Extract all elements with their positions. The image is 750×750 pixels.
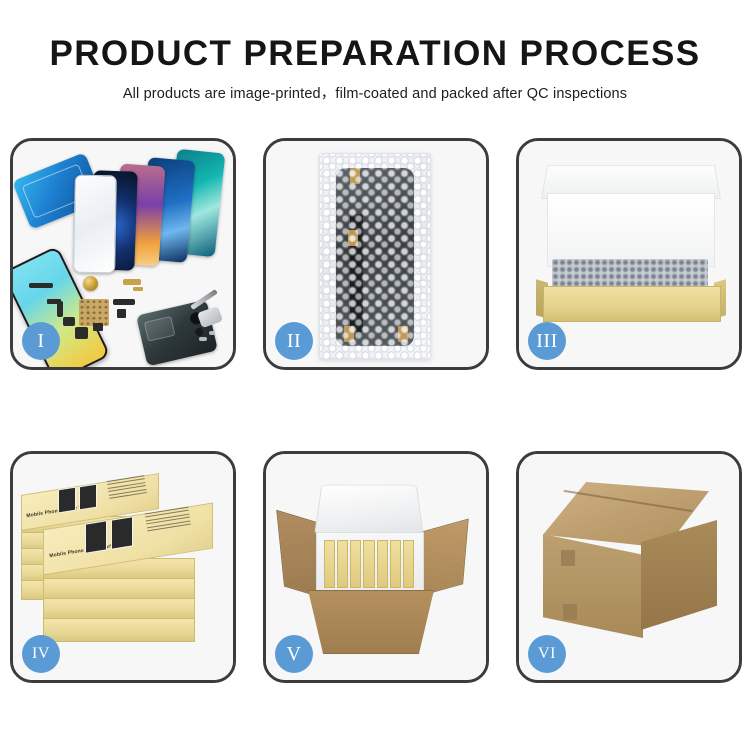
carton-left-face-icon bbox=[543, 534, 643, 638]
process-step-panel-4[interactable]: Mobile Phone Spare Parts Mobile Phone Sp… bbox=[10, 451, 236, 683]
page-title: PRODUCT PREPARATION PROCESS bbox=[0, 36, 750, 73]
inner-box-1 bbox=[324, 540, 335, 588]
speaker-module-icon bbox=[83, 276, 98, 291]
inner-box-5 bbox=[377, 540, 388, 588]
process-step-panel-5[interactable]: V bbox=[263, 451, 489, 683]
bracket-icon bbox=[47, 299, 61, 304]
inner-box-3 bbox=[350, 540, 361, 588]
screw-tray-icon bbox=[79, 299, 109, 326]
stacked-box-f2 bbox=[43, 578, 195, 600]
screw-2-icon bbox=[209, 331, 215, 335]
box-thumbnail-front-1 bbox=[85, 520, 107, 553]
process-step-panel-3[interactable]: III bbox=[516, 138, 742, 370]
box-thumbnail-rear-2 bbox=[79, 484, 97, 511]
header: PRODUCT PREPARATION PROCESS All products… bbox=[0, 36, 750, 103]
process-step-panel-6[interactable]: VI bbox=[516, 451, 742, 683]
packing-tape-lower-icon bbox=[563, 604, 577, 620]
ribbon-cable-icon bbox=[113, 299, 135, 305]
bubble-wrapped-units-icon bbox=[552, 259, 708, 289]
step-badge-1: I bbox=[22, 322, 60, 360]
process-step-grid: I II bbox=[10, 138, 742, 683]
process-step-panel-2[interactable]: II bbox=[263, 138, 489, 370]
box-thumbnail-rear-1 bbox=[58, 487, 76, 514]
stacked-box-f4 bbox=[43, 618, 195, 642]
flex-cable-small-icon bbox=[133, 287, 143, 291]
screw-icon bbox=[199, 337, 207, 341]
inner-box-2 bbox=[337, 540, 348, 588]
vibration-motor-icon bbox=[75, 327, 88, 339]
inner-box-4 bbox=[363, 540, 374, 588]
bubble-wrap-bag-icon bbox=[319, 153, 431, 360]
flex-cable-icon bbox=[123, 279, 141, 285]
stacked-box-f3 bbox=[43, 598, 195, 620]
box-back-wall-icon bbox=[547, 193, 715, 267]
adhesive-tape-top-icon bbox=[350, 168, 360, 184]
box-thumbnail-front-2 bbox=[111, 516, 133, 549]
inner-boxes-group bbox=[324, 540, 414, 588]
product-preparation-infographic: PRODUCT PREPARATION PROCESS All products… bbox=[0, 0, 750, 750]
adhesive-tape-mid-icon bbox=[348, 230, 358, 246]
carton-body-icon bbox=[308, 590, 434, 654]
earpiece-mesh-icon bbox=[93, 323, 103, 331]
packing-tape-upper-icon bbox=[561, 550, 575, 566]
adhesive-tape-bottom-left-icon bbox=[344, 326, 354, 342]
box-front-panel-icon bbox=[543, 286, 721, 322]
battery-connector-icon bbox=[29, 283, 53, 288]
inner-box-7 bbox=[403, 540, 414, 588]
step-badge-6: VI bbox=[528, 635, 566, 673]
process-step-panel-1[interactable]: I bbox=[10, 138, 236, 370]
page-subtitle: All products are image-printed，film-coat… bbox=[0, 82, 750, 103]
camera-module-icon bbox=[63, 317, 75, 326]
step-badge-2: II bbox=[275, 322, 313, 360]
step-badge-3: III bbox=[528, 322, 566, 360]
ic-chip-icon bbox=[117, 309, 126, 318]
adhesive-tape-bottom-right-icon bbox=[398, 326, 408, 342]
inner-box-6 bbox=[390, 540, 401, 588]
screwdriver-handle-icon bbox=[197, 306, 223, 329]
step-badge-4: IV bbox=[22, 635, 60, 673]
step-badge-5: V bbox=[275, 635, 313, 673]
styrofoam-lid-icon bbox=[314, 485, 424, 535]
screen-assembly-icon bbox=[336, 168, 414, 346]
